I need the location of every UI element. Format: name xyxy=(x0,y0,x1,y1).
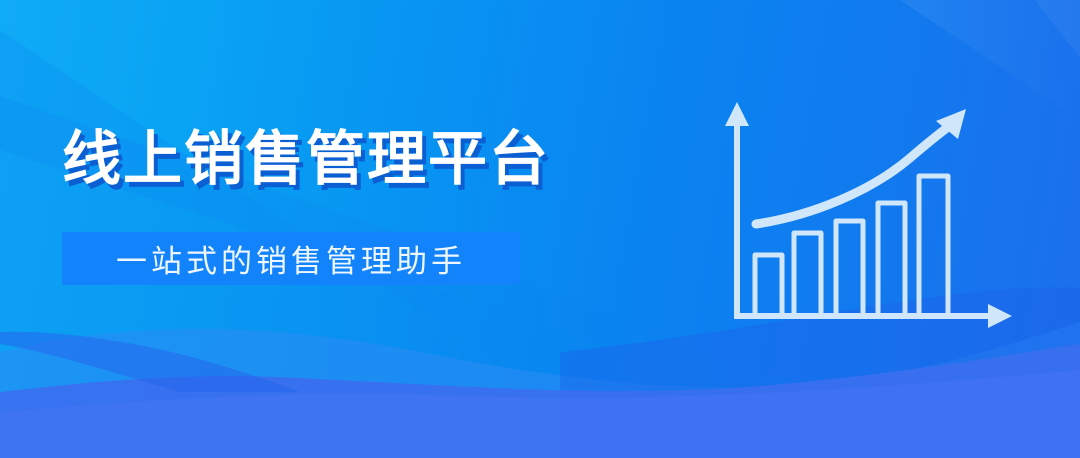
chart-bar-4 xyxy=(878,203,905,316)
promo-banner: 线上销售管理平台 一站式的销售管理助手 xyxy=(0,0,1080,458)
subtitle-band: 一站式的销售管理助手 xyxy=(62,232,520,285)
x-axis-arrow xyxy=(734,304,1012,328)
growth-bar-chart-illustration xyxy=(700,88,1030,338)
chart-bar-5 xyxy=(919,176,948,316)
growth-curve-arrow xyxy=(756,109,966,224)
page-title: 线上销售管理平台 xyxy=(62,128,622,192)
chart-bar-2 xyxy=(794,233,821,316)
chart-bar-3 xyxy=(836,221,863,316)
chart-bar-1 xyxy=(755,255,782,316)
page-subtitle: 一站式的销售管理助手 xyxy=(62,232,520,285)
y-axis-arrow xyxy=(725,102,749,318)
headline-block: 线上销售管理平台 一站式的销售管理助手 xyxy=(62,128,622,192)
